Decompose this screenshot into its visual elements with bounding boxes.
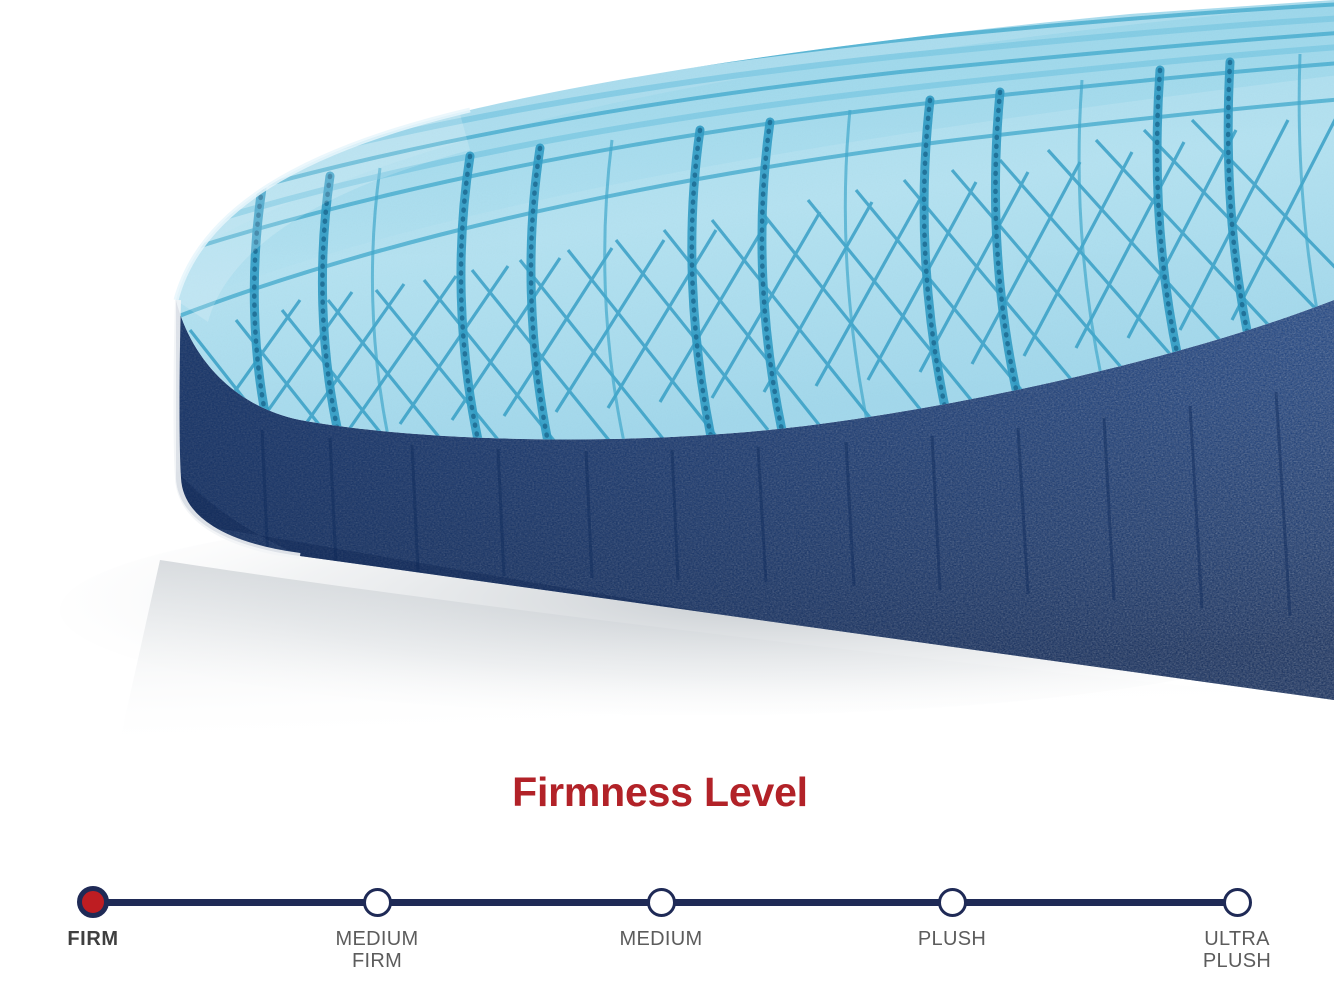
mattress-illustration [0,0,1334,740]
firmness-label-ultra-plush-line-1: ULTRA [1137,928,1334,950]
firmness-label-medium-firm: MEDIUM FIRM [277,928,477,972]
firmness-label-firm: FIRM [0,928,193,950]
firmness-label-ultra-plush-line-2: PLUSH [1137,950,1334,972]
firmness-scale[interactable]: FIRM MEDIUM FIRM MEDIUM [0,880,1334,990]
firmness-label-medium-line-1: MEDIUM [561,928,761,950]
firmness-dot-ultra-plush[interactable] [1223,888,1252,917]
firmness-label-medium: MEDIUM [561,928,761,950]
firmness-dot-medium-firm[interactable] [363,888,392,917]
firmness-label-firm-line-1: FIRM [0,928,193,950]
firmness-label-medium-firm-line-1: MEDIUM [277,928,477,950]
firmness-level-section: Firmness Level FIRM MEDIUM FIRM [0,740,1334,1000]
firmness-dot-medium[interactable] [647,888,676,917]
firmness-label-medium-firm-line-2: FIRM [277,950,477,972]
product-firmness-page: Firmness Level FIRM MEDIUM FIRM [0,0,1334,1000]
firmness-label-plush: PLUSH [852,928,1052,950]
firmness-dot-plush[interactable] [938,888,967,917]
firmness-label-plush-line-1: PLUSH [852,928,1052,950]
firmness-title: Firmness Level [0,768,1320,816]
firmness-dot-firm[interactable] [77,886,109,918]
mattress-product-image [0,0,1334,740]
firmness-label-ultra-plush: ULTRA PLUSH [1137,928,1334,972]
